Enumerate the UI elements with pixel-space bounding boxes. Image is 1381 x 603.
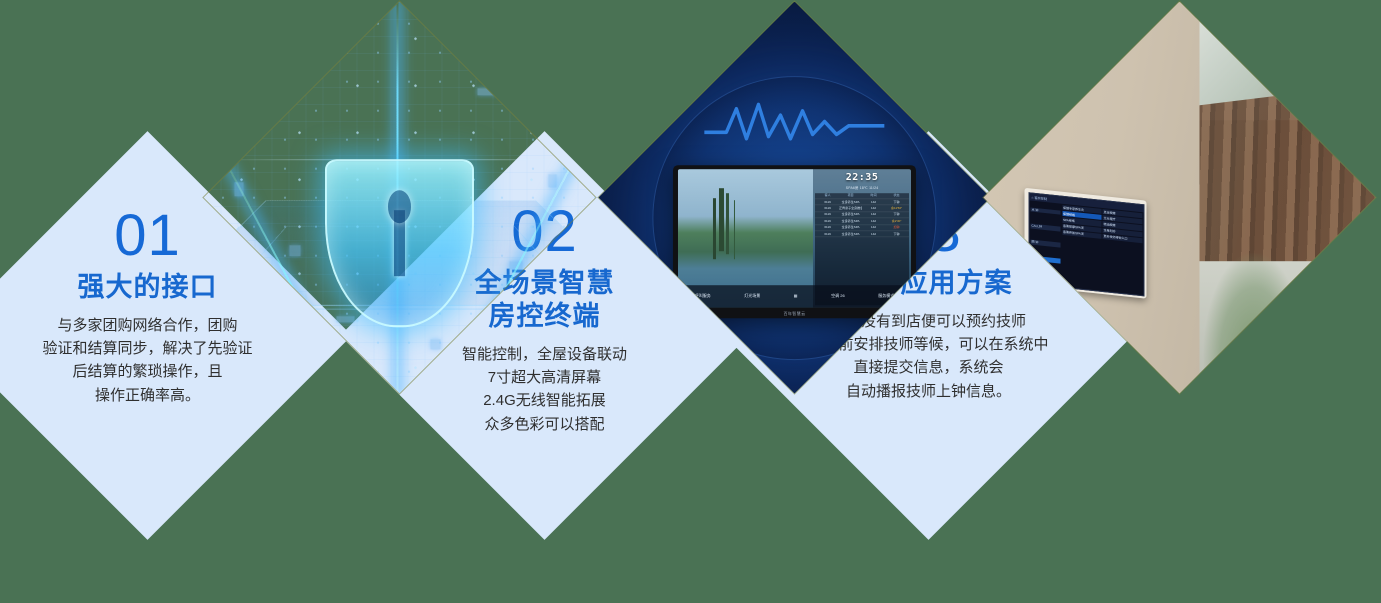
side-item-2[interactable]: CALL钟 bbox=[1031, 223, 1061, 231]
card-2-title-line: 房控终端 bbox=[475, 300, 615, 333]
potted-plant-2 bbox=[1281, 292, 1367, 393]
potted-plant bbox=[1203, 253, 1305, 386]
panel-menu-col-2: 足浴按摩 艾灸理疗 精油按摩 全身刮痧 更多技师排钟入口 bbox=[1103, 209, 1143, 294]
card-2-description: 智能控制，全屋设备联动 7寸超大高清屏幕 2.4G无线智能拓展 众多色彩可以搭配 bbox=[462, 343, 627, 436]
side-item-1[interactable]: 点 钟 bbox=[1031, 207, 1061, 215]
card-2-desc-line: 2.4G无线智能拓展 bbox=[462, 389, 627, 412]
card-1-number: 01 bbox=[114, 207, 181, 265]
card-2-desc-line: 智能控制，全屋设备联动 bbox=[462, 343, 627, 366]
card-1-description: 与多家团购网络合作，团购 验证和结算同步，解决了先验证 后结算的繁琐操作，且 操… bbox=[42, 314, 252, 407]
bottom-button-ac[interactable]: 空调 26 bbox=[831, 293, 845, 299]
keyhole-icon bbox=[394, 210, 404, 276]
waveform-icon bbox=[704, 100, 884, 147]
card-1-desc-line: 与多家团购网络合作，团购 bbox=[42, 314, 252, 337]
card-1-desc-line: 验证和结算同步，解决了先验证 bbox=[42, 337, 252, 360]
card-3-desc-line: 直接提交信息，系统会 bbox=[808, 356, 1048, 379]
feature-diamond-banner: 01 强大的接口 与多家团购网络合作，团购 验证和结算同步，解决了先验证 后结算… bbox=[0, 0, 1381, 603]
table-header-cell: 时间 bbox=[862, 194, 885, 198]
card-1-desc-line: 操作正确率高。 bbox=[42, 384, 252, 407]
card-1-title: 强大的接口 bbox=[78, 271, 218, 304]
table-row: 6119 全身养生SPA 142 下钟 bbox=[815, 231, 909, 237]
table-header-cell: 客人 bbox=[816, 194, 839, 198]
card-1-desc-line: 后结算的繁琐操作，且 bbox=[42, 360, 252, 383]
tablet-status-line: SPA6房 18℃ 11/24 bbox=[813, 183, 911, 190]
card-2-desc-line: 众多色彩可以搭配 bbox=[462, 413, 627, 436]
card-3-desc-line: 自动播报技师上钟信息。 bbox=[808, 380, 1048, 403]
tablet-device[interactable]: CSI2BO 22:35 SPA6房 18℃ 11/24 客人 项目 时间 bbox=[673, 165, 916, 318]
tablet-screen[interactable]: CSI2BO 22:35 SPA6房 18℃ 11/24 客人 项目 时间 bbox=[678, 169, 911, 307]
side-item-3[interactable]: 圆 钟 bbox=[1031, 240, 1061, 248]
tablet-bottom-bar[interactable]: 呼叫服务 灯光场景 ▦ 空调 26 服务模式 bbox=[678, 285, 911, 307]
card-2-desc-line: 7寸超大高清屏幕 bbox=[462, 366, 627, 389]
tree-graphic bbox=[719, 188, 724, 251]
apps-grid-icon[interactable]: ▦ bbox=[794, 293, 798, 298]
bottom-button-light[interactable]: 灯光场景 bbox=[744, 293, 760, 299]
panel-menu-col-1: 保健专家养生灸 保健经络 SPA经络 香薰按摩SPA项 香薰养肤SPA项 bbox=[1062, 205, 1102, 290]
panel-menu-grid[interactable]: 保健专家养生灸 保健经络 SPA经络 香薰按摩SPA项 香薰养肤SPA项 足浴按… bbox=[1061, 204, 1143, 296]
card-1-title-line: 强大的接口 bbox=[78, 271, 218, 304]
table-header-cell: 项目 bbox=[839, 194, 862, 198]
tablet-clock: 22:35 bbox=[813, 169, 911, 183]
table-header-cell: 状态 bbox=[885, 194, 908, 198]
